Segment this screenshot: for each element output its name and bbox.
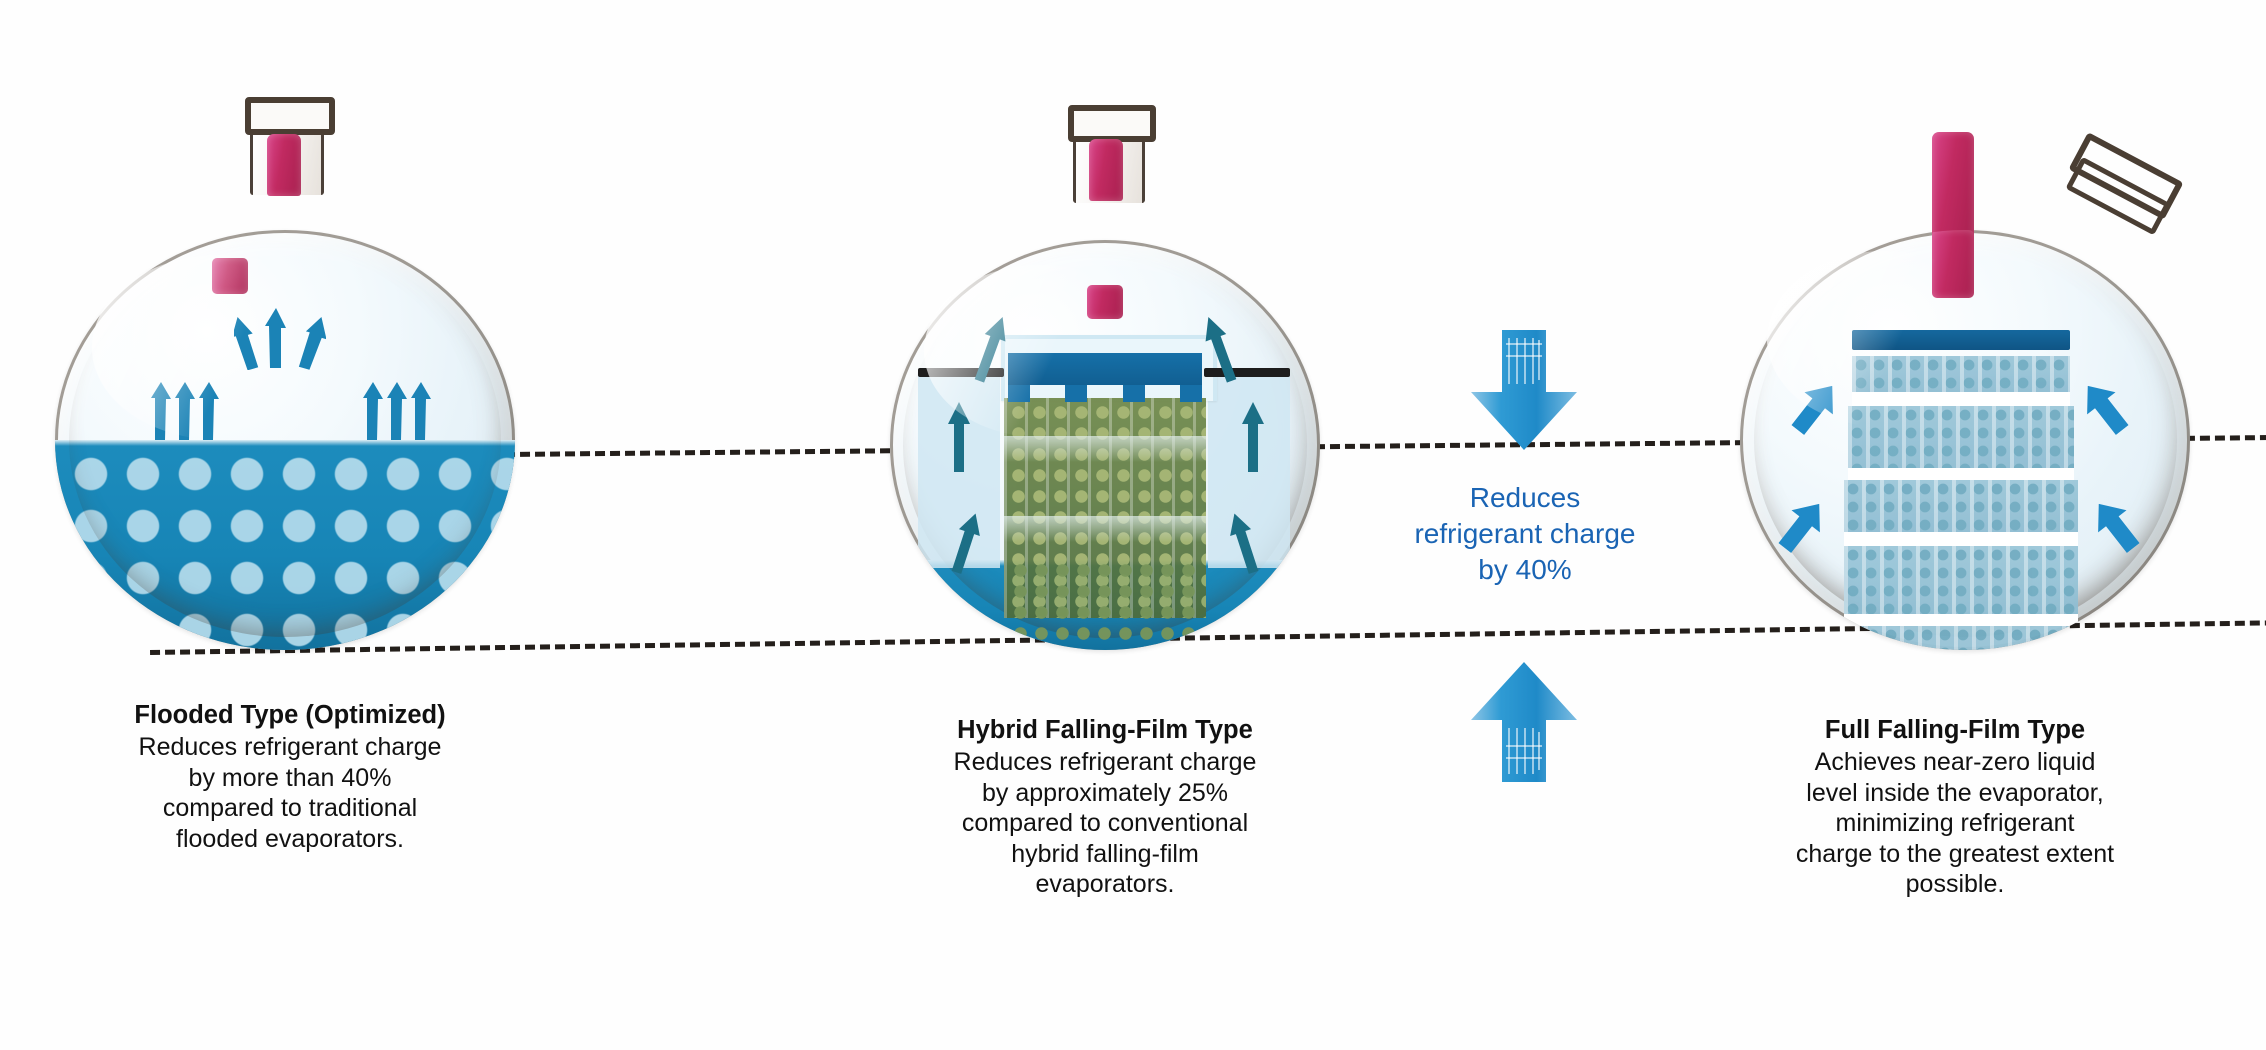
distributor-teeth [1008, 385, 1202, 402]
tube-bundle-band-3 [1844, 480, 2078, 532]
vapor-arrow-upper-left [1782, 374, 1848, 443]
refrigerant-inlet-nozzle-inner [212, 258, 248, 294]
liquid-surface-line [55, 440, 515, 446]
tube-bundle-band-4 [1844, 546, 2078, 614]
tube-bundle-band-5 [1846, 626, 2076, 650]
vessel-shell [55, 230, 515, 650]
tube-bundle-band-1 [1852, 356, 2070, 392]
caption-line-1: Reduces refrigerant charge [895, 747, 1315, 778]
caption-hybrid-falling-film: Hybrid Falling-Film Type Reduces refrige… [895, 715, 1315, 900]
tube-bundle-dots [55, 440, 515, 650]
diagram-canvas: Flooded Type (Optimized) Reduces refrige… [0, 0, 2266, 1050]
caption-title: Flooded Type (Optimized) [75, 700, 505, 731]
vessel-shell [1740, 230, 2190, 650]
tube-bundle-band-2 [1848, 406, 2074, 468]
refrigerant-inlet-nozzle-inner [1932, 230, 1974, 298]
reduction-arrow-down [1465, 330, 1583, 457]
refrigerant-inlet-nozzle-upper [1089, 139, 1123, 201]
vapor-arrow-mid-left [944, 402, 974, 472]
bundle-sheen-upper [1004, 436, 1206, 462]
bundle-gap-3 [1844, 532, 2078, 546]
caption-line-2: level inside the evaporator, [1730, 778, 2180, 809]
distributor-tooth [1123, 385, 1145, 402]
vapor-arrow-group-left [150, 382, 226, 440]
vapor-arrow-lower-right [2083, 492, 2149, 561]
reduction-note-line-1: Reduces [1375, 480, 1675, 516]
caption-flooded-type: Flooded Type (Optimized) Reduces refrige… [75, 700, 505, 854]
submerged-tube-dots [1010, 560, 1200, 646]
vapor-arrow-mid-right [1238, 402, 1268, 472]
caption-line-2: by more than 40% [75, 763, 505, 794]
caption-line-5: possible. [1730, 869, 2180, 900]
caption-line-3: compared to traditional [75, 793, 505, 824]
caption-line-4: flooded evaporators. [75, 824, 505, 855]
reduction-note: Reduces refrigerant charge by 40% [1375, 480, 1675, 588]
caption-title: Full Falling-Film Type [1730, 715, 2180, 746]
bundle-gap-1 [1852, 392, 2070, 406]
neck-flange-bracket [245, 97, 335, 135]
liquid-refrigerant-pool [55, 440, 515, 650]
caption-line-4: hybrid falling-film [895, 839, 1315, 870]
vessel-hybrid-falling-film [890, 240, 1320, 650]
caption-line-1: Reduces refrigerant charge [75, 732, 505, 763]
liquid-distributor-bar [1852, 330, 2070, 350]
refrigerant-inlet-nozzle-inner [1087, 285, 1123, 319]
caption-line-3: minimizing refrigerant [1730, 808, 2180, 839]
caption-line-4: charge to the greatest extent [1730, 839, 2180, 870]
caption-line-3: compared to conventional [895, 808, 1315, 839]
vapor-arrow-group-right [362, 382, 438, 440]
distributor-band [1008, 353, 1202, 385]
vessel-full-falling-film [1740, 230, 2190, 650]
distributor-tooth [1008, 385, 1030, 402]
caption-line-1: Achieves near-zero liquid [1730, 747, 2180, 778]
caption-full-falling-film: Full Falling-Film Type Achieves near-zer… [1730, 715, 2180, 900]
reduction-note-line-3: by 40% [1375, 552, 1675, 588]
vapor-arrow-lower-left [1769, 492, 1835, 561]
caption-line-5: evaporators. [895, 869, 1315, 900]
refrigerant-inlet-nozzle-upper [1932, 132, 1974, 242]
vapor-arrow-group-center [234, 308, 326, 370]
distributor-tooth [1180, 385, 1202, 402]
bundle-gap-4 [1844, 614, 2078, 626]
vessel-shell [890, 240, 1320, 650]
bundle-sheen-mid [1004, 516, 1206, 542]
vessel-flooded-type [55, 230, 515, 650]
vapor-arrow-upper-right [2072, 374, 2138, 443]
caption-title: Hybrid Falling-Film Type [895, 715, 1315, 746]
reduction-arrow-up [1465, 660, 1583, 787]
refrigerant-inlet-nozzle-upper [267, 134, 301, 196]
caption-line-2: by approximately 25% [895, 778, 1315, 809]
reduction-note-line-2: refrigerant charge [1375, 516, 1675, 552]
neck-flange-bracket [1068, 105, 1156, 142]
distributor-tooth [1065, 385, 1087, 402]
bundle-gap-2 [1848, 468, 2074, 480]
